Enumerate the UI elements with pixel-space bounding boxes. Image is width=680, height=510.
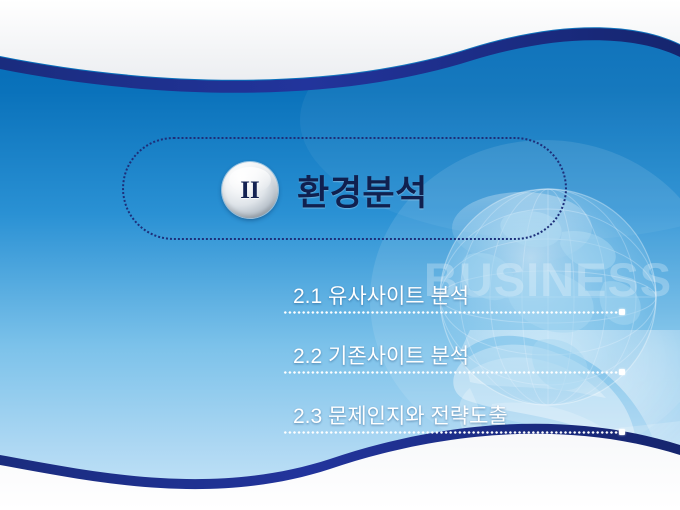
agenda-item-2[interactable]: 2.2 기존사이트 분석	[283, 338, 623, 398]
section-number-badge: II	[222, 162, 278, 218]
agenda-item-3-rule-end-dot	[619, 429, 625, 435]
agenda-item-2-rule-end-dot	[619, 369, 625, 375]
agenda-item-1-label: 2.1 유사사이트 분석	[293, 280, 469, 310]
agenda-item-2-label: 2.2 기존사이트 분석	[293, 340, 469, 370]
agenda-item-3-rule	[283, 431, 619, 434]
section-number-label: II	[240, 178, 259, 203]
slide-title-row: II 환경분석	[222, 160, 428, 220]
agenda-list: 2.1 유사사이트 분석 2.2 기존사이트 분석 2.3 문제인지와 전략도출	[283, 278, 623, 458]
agenda-item-2-rule	[283, 371, 619, 374]
agenda-item-1-rule	[283, 311, 619, 314]
agenda-item-1-rule-end-dot	[619, 309, 625, 315]
agenda-item-3-label: 2.3 문제인지와 전략도출	[293, 400, 508, 430]
agenda-item-3[interactable]: 2.3 문제인지와 전략도출	[283, 398, 623, 458]
presentation-slide: BUSINESS II 환경분석 2.1 유사사이트 분석 2.2 기존사이트 …	[0, 0, 680, 510]
slide-title: 환경분석	[297, 165, 428, 216]
agenda-item-1[interactable]: 2.1 유사사이트 분석	[283, 278, 623, 338]
